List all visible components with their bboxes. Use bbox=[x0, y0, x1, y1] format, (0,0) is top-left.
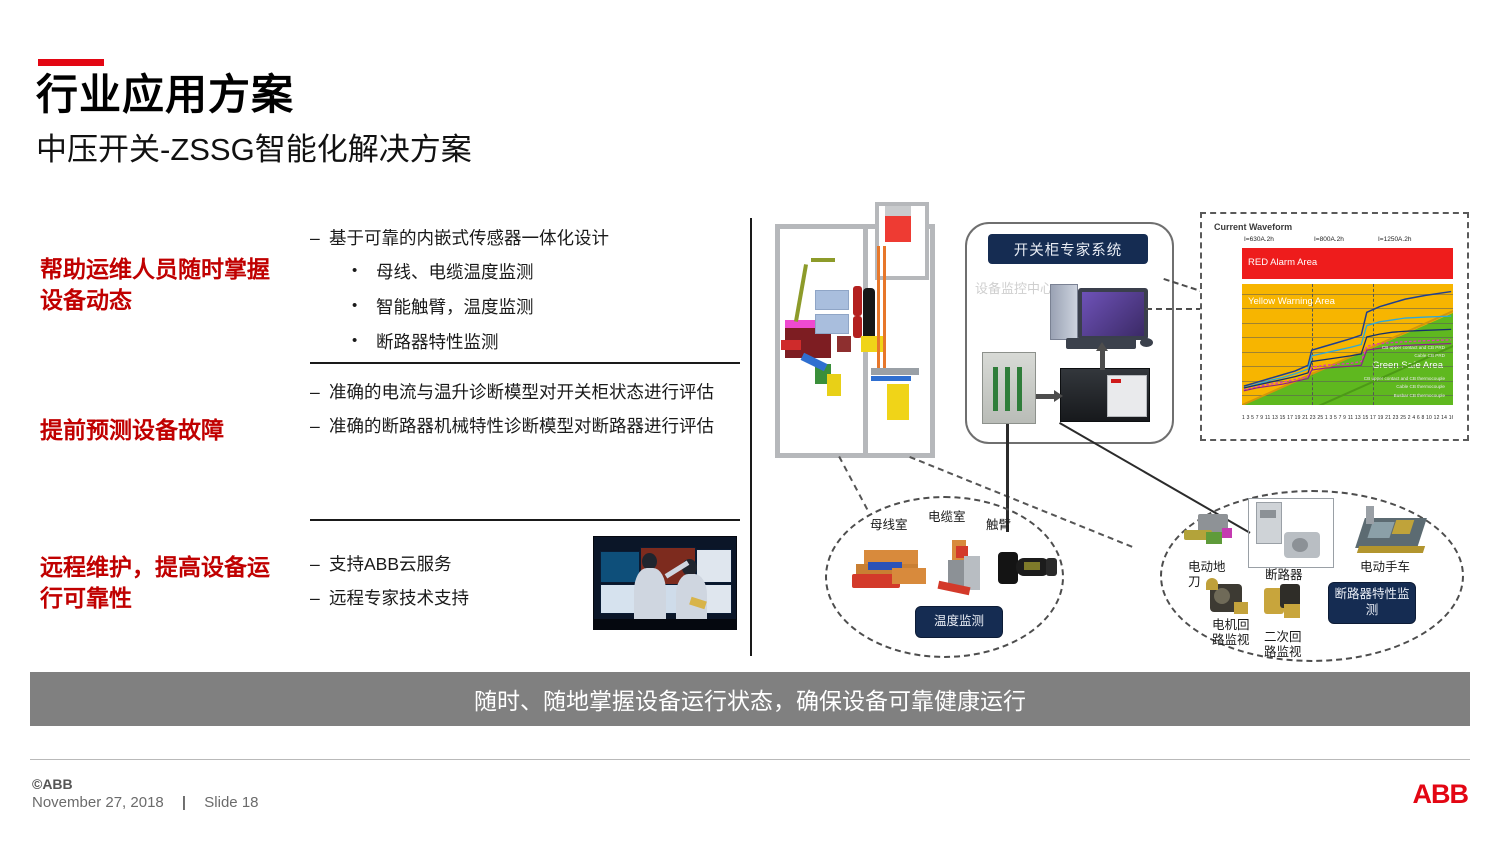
arrow-ipc-to-pc bbox=[1100, 350, 1105, 370]
callout-label-motor-circuit-monitoring: 电机回路监视 bbox=[1212, 618, 1254, 648]
chart-legend-entry-3: CB upper contact and CB thermocouple bbox=[1364, 376, 1445, 381]
secondary-circuit-icon bbox=[1260, 584, 1304, 620]
sub-bullet-text: 母线、电缆温度监测 bbox=[376, 260, 534, 285]
mouse-icon bbox=[1140, 338, 1153, 347]
chart-zone-yellow: Yellow Warning Area Green Safe Area bbox=[1242, 284, 1453, 405]
copyright-text: ©ABB bbox=[32, 776, 73, 792]
earthing-switch-icon bbox=[1184, 514, 1236, 552]
footer-date: November 27, 2018 bbox=[32, 794, 164, 811]
callout-label-motorised-truck: 电动手车 bbox=[1360, 560, 1410, 575]
chart-legend-entry-4: Cable CB thermocouple bbox=[1396, 384, 1445, 389]
badge-breaker-characteristic-monitoring: 断路器特性监测 bbox=[1328, 582, 1416, 624]
busbar-part-icon bbox=[852, 548, 928, 596]
chart-condition-label-2: I=800A.2h bbox=[1314, 236, 1344, 243]
callout-label-circuit-breaker: 断路器 bbox=[1265, 568, 1303, 583]
bullet-text: 基于可靠的内嵌式传感器一体化设计 bbox=[329, 226, 609, 251]
page-subtitle: 中压开关-ZSSG智能化解决方案 bbox=[36, 131, 472, 170]
leader-cabinet-to-left-ellipse bbox=[838, 456, 868, 510]
arrow-head bbox=[1054, 390, 1063, 402]
dash-marker: – bbox=[310, 586, 329, 611]
pc-tower-icon bbox=[1050, 284, 1078, 340]
callout-label-busbar-room: 母线室 bbox=[870, 518, 908, 533]
dash-marker: – bbox=[310, 414, 329, 439]
dash-bullet: – 准确的电流与温升诊断模型对开关柜状态进行评估 bbox=[310, 380, 740, 405]
chart-legend-entry-1: CB upper contact and CB PRD bbox=[1382, 345, 1445, 350]
contact-arm-sensor-icon bbox=[998, 548, 1058, 588]
temperature-rise-diagnosis-chart: Current Waveform I=630A.2h I=800A.2h I=1… bbox=[1200, 212, 1469, 441]
bullet-group-2: – 准确的电流与温升诊断模型对开关柜状态进行评估 – 准确的断路器机械特性诊断模… bbox=[310, 380, 740, 448]
dash-bullet: – 基于可靠的内嵌式传感器一体化设计 bbox=[310, 226, 740, 251]
cable-room-part-icon bbox=[938, 540, 986, 602]
bullet-marker: • bbox=[352, 260, 376, 285]
chart-zone-red: RED Alarm Area bbox=[1242, 248, 1453, 279]
sub-bullet: • 断路器特性监测 bbox=[352, 330, 740, 355]
chart-legend-entry-5: Busbar CB thermocouple bbox=[1394, 393, 1445, 398]
dash-marker: – bbox=[310, 552, 329, 577]
dash-marker: – bbox=[310, 380, 329, 405]
slide-number: Slide 18 bbox=[204, 794, 258, 811]
badge-temperature-monitoring: 温度监测 bbox=[915, 606, 1003, 638]
section-heading-3: 远程维护，提高设备运行可靠性 bbox=[40, 552, 270, 614]
arrow-ied-to-ipc bbox=[1036, 394, 1054, 399]
footer-divider bbox=[30, 759, 1470, 760]
chart-x-axis-ticks: 1 3 5 7 9 11 13 15 17 19 21 23 25 1 3 5 … bbox=[1242, 415, 1453, 421]
circuit-breaker-icon bbox=[1248, 498, 1332, 566]
bullet-marker: • bbox=[352, 295, 376, 320]
bullet-group-1: – 基于可靠的内嵌式传感器一体化设计 • 母线、电缆温度监测 • 智能触臂，温度… bbox=[310, 226, 740, 364]
solution-architecture-diagram: 开关柜专家系统 设备监控中心 Current Waveform I=630A.2… bbox=[760, 200, 1480, 660]
control-room-photo bbox=[593, 536, 737, 630]
arrow-head bbox=[1096, 342, 1108, 351]
bullet-marker: • bbox=[352, 330, 376, 355]
motorised-truck-icon bbox=[1356, 506, 1426, 556]
chart-condition-label-3: I=1250A.2h bbox=[1378, 236, 1411, 243]
chart-zone-red-label: RED Alarm Area bbox=[1248, 257, 1317, 268]
ied-module-icon bbox=[982, 352, 1036, 424]
section-heading-2: 提前预测设备故障 bbox=[40, 415, 270, 446]
connector-pc-to-chart bbox=[1146, 308, 1202, 310]
bullet-text: 远程专家技术支持 bbox=[329, 586, 469, 611]
chart-title: Current Waveform bbox=[1214, 222, 1292, 232]
sub-bullet: • 智能触臂，温度监测 bbox=[352, 295, 740, 320]
industrial-pc-icon bbox=[1060, 368, 1150, 422]
sub-bullet-text: 断路器特性监测 bbox=[376, 330, 499, 355]
column-divider bbox=[750, 218, 752, 656]
footer-meta: November 27, 2018 | Slide 18 bbox=[32, 794, 259, 811]
bullet-text: 准确的电流与温升诊断模型对开关柜状态进行评估 bbox=[329, 380, 714, 405]
motor-circuit-icon bbox=[1204, 578, 1250, 616]
pc-monitor-icon bbox=[1078, 288, 1148, 340]
dash-marker: – bbox=[310, 226, 329, 251]
title-accent-rule bbox=[38, 59, 104, 66]
dash-bullet: – 准确的断路器机械特性诊断模型对断路器进行评估 bbox=[310, 414, 740, 439]
section-divider-2 bbox=[310, 519, 740, 521]
summary-banner: 随时、随地掌握设备运行状态，确保设备可靠健康运行 bbox=[30, 672, 1470, 726]
callout-label-secondary-circuit-monitoring: 二次回路监视 bbox=[1264, 630, 1306, 660]
callout-label-cable-room: 电缆室 bbox=[928, 510, 966, 525]
callout-label-contact-arm: 触臂 bbox=[986, 518, 1011, 533]
sub-bullet: • 母线、电缆温度监测 bbox=[352, 260, 740, 285]
switchgear-cabinet-illustration bbox=[775, 224, 930, 452]
chart-plot-area: Current Waveform I=630A.2h I=800A.2h I=1… bbox=[1210, 222, 1459, 431]
expert-system-title: 开关柜专家系统 bbox=[988, 234, 1148, 264]
monitoring-center-label: 设备监控中心 bbox=[975, 278, 1053, 297]
chart-legend-entry-2: Cable CB PRD bbox=[1414, 353, 1445, 358]
section-heading-1: 帮助运维人员随时掌握设备动态 bbox=[40, 254, 270, 316]
bullet-text: 准确的断路器机械特性诊断模型对断路器进行评估 bbox=[329, 414, 714, 439]
footer-separator: | bbox=[182, 794, 186, 811]
page-title: 行业应用方案 bbox=[36, 70, 294, 120]
bullet-text: 支持ABB云服务 bbox=[329, 552, 452, 577]
chart-condition-label-1: I=630A.2h bbox=[1244, 236, 1274, 243]
sub-bullet-text: 智能触臂，温度监测 bbox=[376, 295, 534, 320]
abb-logo: ABB bbox=[1413, 779, 1469, 810]
